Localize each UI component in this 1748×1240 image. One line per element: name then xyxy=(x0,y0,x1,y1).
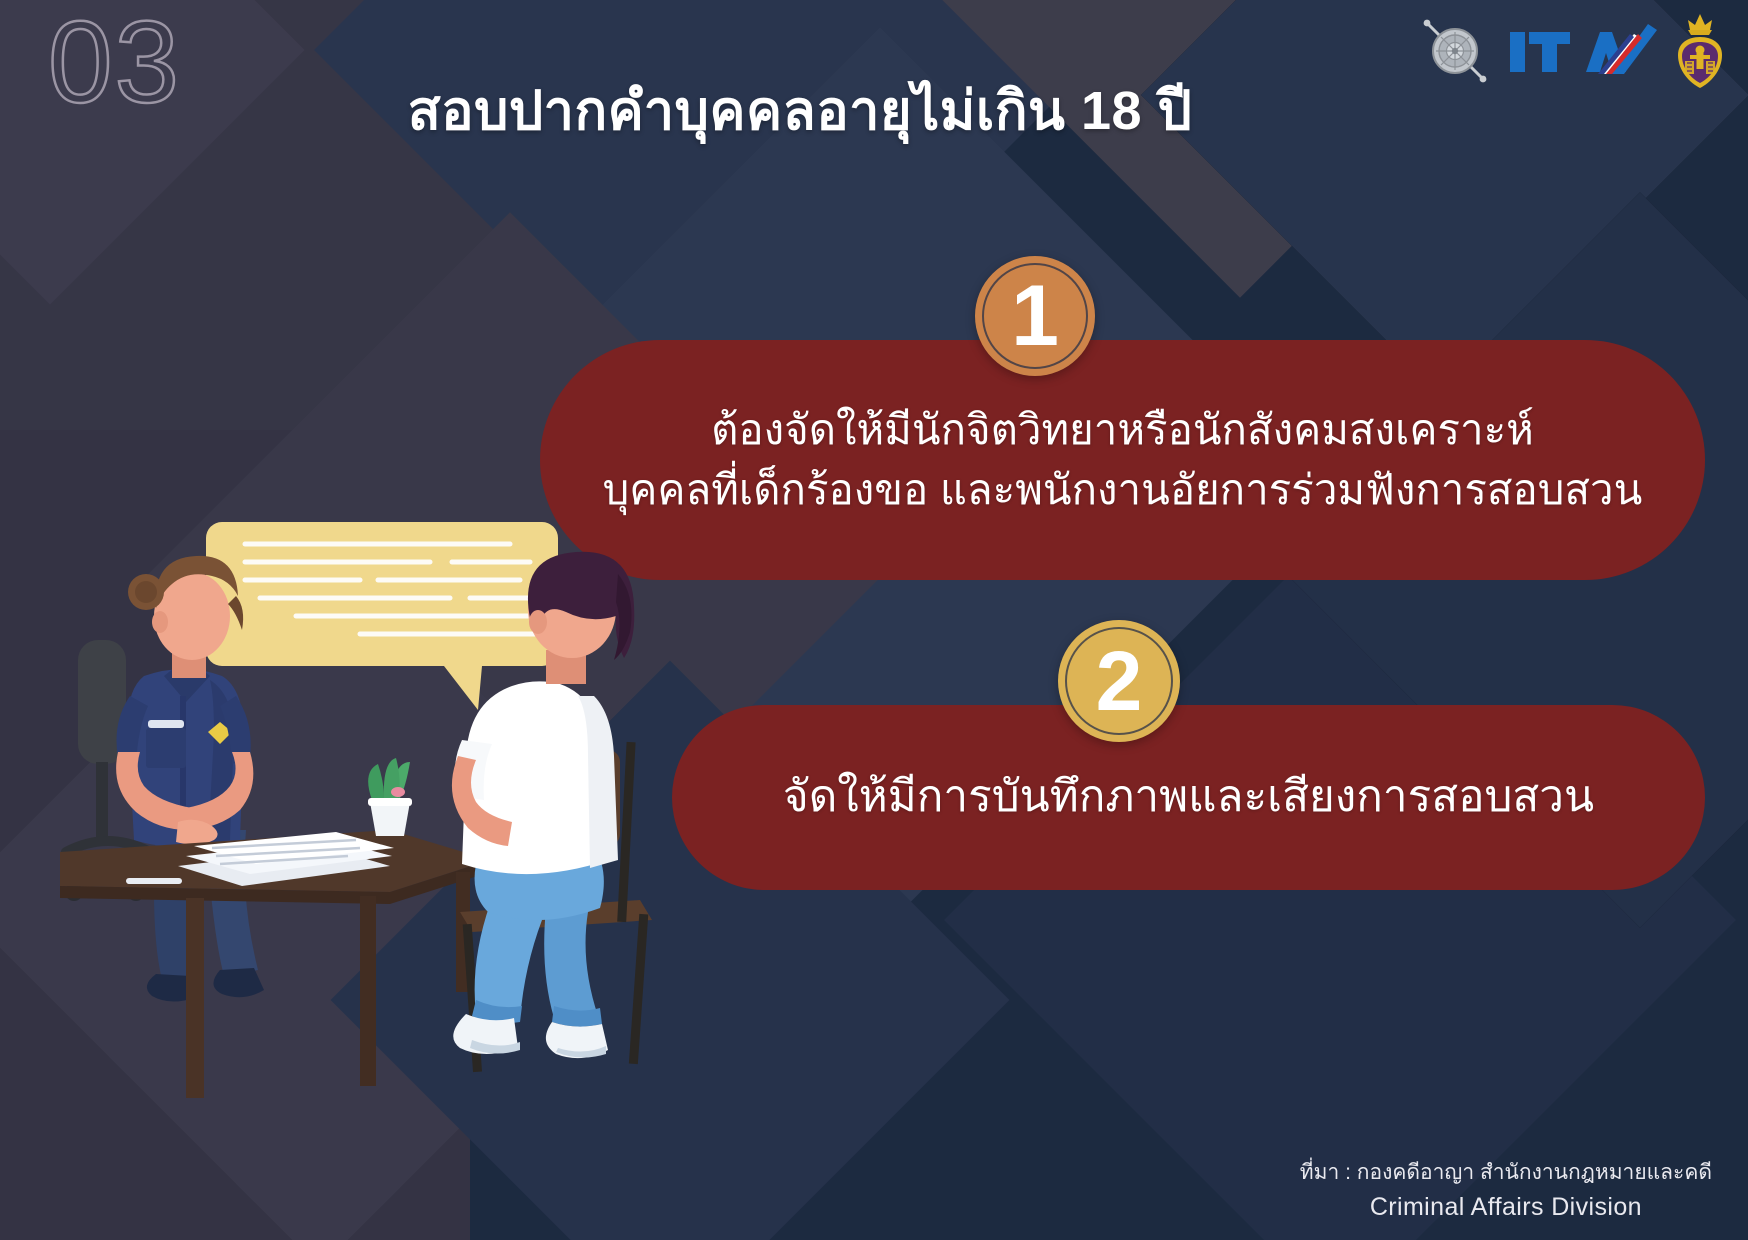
section-number: 03 xyxy=(48,6,248,116)
step-badge-1-number: 1 xyxy=(1011,273,1059,359)
section-number-text: 03 xyxy=(48,0,181,127)
footer-division-line: Criminal Affairs Division xyxy=(1300,1189,1712,1227)
ita-logo-icon xyxy=(1508,20,1658,82)
logo-group xyxy=(1416,8,1728,94)
potted-plant xyxy=(368,758,412,836)
statement-line: ต้องจัดให้มีนักจิตวิทยาหรือนักสังคมสงเคร… xyxy=(603,400,1643,460)
statement-pill-1: ต้องจัดให้มีนักจิตวิทยาหรือนักสังคมสงเคร… xyxy=(540,340,1705,580)
statement-line: บุคคลที่เด็กร้องขอ และพนักงานอัยการร่วมฟ… xyxy=(603,460,1643,520)
statement-line: จัดให้มีการบันทึกภาพและเสียงการสอบสวน xyxy=(783,766,1594,828)
statement-pill-2-text: จัดให้มีการบันทึกภาพและเสียงการสอบสวน xyxy=(741,766,1636,828)
statement-pill-1-text: ต้องจัดให้มีนักจิตวิทยาหรือนักสังคมสงเคร… xyxy=(561,400,1685,519)
footer-source: ที่มา : กองคดีอาญา สำนักงานกฎหมายและคดี … xyxy=(1300,1157,1712,1226)
step-badge-1: 1 xyxy=(975,256,1095,376)
speech-bubble-icon xyxy=(206,522,558,710)
step-badge-2: 2 xyxy=(1058,620,1180,742)
royal-thai-police-emblem-icon xyxy=(1672,11,1728,91)
statement-pill-2: จัดให้มีการบันทึกภาพและเสียงการสอบสวน xyxy=(672,705,1705,890)
step-badge-2-number: 2 xyxy=(1096,639,1143,723)
footer-source-line: ที่มา : กองคดีอาญา สำนักงานกฎหมายและคดี xyxy=(1300,1157,1712,1189)
chakra-emblem-icon xyxy=(1416,12,1494,90)
page-title: สอบปากคำบุคคลอายุไม่เกิน 18 ปี xyxy=(300,82,1300,141)
police-interview-illustration xyxy=(60,500,700,1120)
infographic-slide: 03 สอบปากคำบุคคลอายุไม่เกิน 18 ปี xyxy=(0,0,1748,1240)
